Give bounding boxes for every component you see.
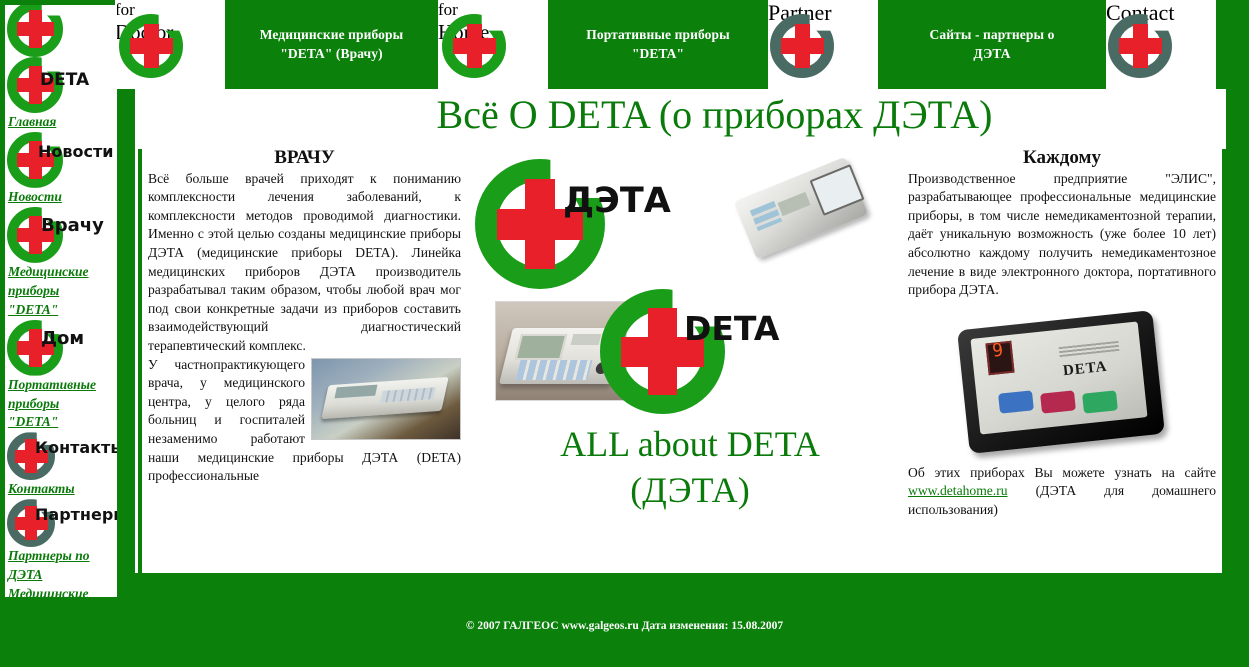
- cross-arc-icon: [442, 14, 506, 78]
- nav-item-partners-line1: Сайты - партнеры о: [930, 26, 1055, 44]
- partners-logo-icon: Партнеры: [5, 499, 117, 547]
- cross-horizontal-bar: [781, 38, 824, 54]
- sidebar-link-partners-2[interactable]: ДЭТА: [5, 566, 117, 585]
- sidebar-item-top: [5, 5, 117, 57]
- logo-word-deta-en: DETA: [684, 309, 779, 348]
- sidebar-link-news[interactable]: Новости: [5, 188, 117, 207]
- device-button-green: [1082, 390, 1118, 413]
- sidebar-link-articles-1[interactable]: Медицинские: [5, 585, 117, 597]
- left-column-heading: ВРАЧУ: [148, 149, 461, 168]
- logo-word-kontakty: Контакты: [35, 438, 117, 457]
- top-navigation: for Doctor Медицинские приборы "DETA" (В…: [0, 0, 1249, 89]
- content-panel: Всё О DETA (о приборах ДЭТА) ВРАЧУ Всё б…: [135, 89, 1226, 573]
- home-logo-icon: Дом: [5, 320, 117, 376]
- deta-portable-device-photo: DETA: [955, 308, 1170, 458]
- device-seven-segment-display: [985, 340, 1014, 375]
- logo-word-deta-ru: ДЭТА: [563, 181, 671, 221]
- sidebar-item-news[interactable]: Новости Новости: [5, 132, 117, 207]
- cross-horizontal-bar: [453, 38, 496, 54]
- logo-word-partnery: Партнеры: [35, 505, 117, 524]
- left-column: ВРАЧУ Всё больше врачей приходят к поним…: [138, 149, 461, 573]
- nav-item-doctor-line2: "DETA" (Врачу): [260, 45, 404, 63]
- sidebar-link-portable-2[interactable]: приборы: [5, 395, 117, 414]
- cross-arc-icon: [7, 5, 63, 57]
- center-headline-line1: ALL about DETA: [475, 421, 905, 467]
- cross-arc-icon: [770, 14, 834, 78]
- deta-contact-logo[interactable]: Contact: [1106, 0, 1216, 89]
- left-column-paragraph-1: Всё больше врачей приходят к пониманию к…: [148, 170, 461, 356]
- logo-word-vrachu: Врачу: [41, 215, 104, 236]
- deta-partner-logo[interactable]: Partner: [768, 0, 878, 89]
- nav-item-partners[interactable]: Сайты - партнеры о ДЭТА: [878, 0, 1106, 89]
- nav-item-doctor[interactable]: Медицинские приборы "DETA" (Врачу): [225, 0, 438, 89]
- nav-item-doctor-line1: Медицинские приборы: [260, 26, 404, 44]
- device-button-red: [1040, 390, 1076, 413]
- nav-item-home-line1: Портативные приборы: [586, 26, 730, 44]
- right-column-paragraph-2-before: Об этих приборах Вы можете узнать на сай…: [908, 465, 1216, 480]
- logo-word-dom: Дом: [41, 328, 84, 349]
- handheld-deta-device-photo: [723, 155, 883, 275]
- professional-device-photo: [311, 358, 461, 440]
- device-screen: [334, 384, 377, 398]
- deta-en-logo: DETA: [600, 289, 725, 414]
- sidebar-link-medical-1[interactable]: Медицинские: [5, 263, 117, 282]
- sidebar-item-partners[interactable]: Партнеры Партнеры по ДЭТА Медицинские ст…: [5, 499, 117, 597]
- nav-item-contacts[interactable]: Контакты: [1216, 0, 1249, 89]
- right-column-heading: Каждому: [908, 149, 1216, 168]
- device-button-up: [998, 390, 1034, 413]
- cross-horizontal-bar: [17, 22, 54, 36]
- sidebar-item-home[interactable]: Дом Портативные приборы "DETA": [5, 320, 117, 433]
- nav-item-home-line2: "DETA": [586, 45, 730, 63]
- nav-item-partners-line2: ДЭТА: [930, 45, 1055, 63]
- center-artwork: ДЭТА DETA ALL ab: [475, 149, 905, 573]
- device-display: [515, 334, 567, 360]
- detahome-link[interactable]: www.detahome.ru: [908, 483, 1008, 498]
- news-logo-icon: Новости: [5, 132, 117, 188]
- deta-logo-icon: DETA: [5, 57, 117, 113]
- sidebar-link-portable-1[interactable]: Портативные: [5, 376, 117, 395]
- sidebar-item-main[interactable]: DETA Главная: [5, 57, 117, 132]
- logo-word-deta: DETA: [40, 70, 89, 90]
- right-column: Каждому Производственное предприятие "ЭЛ…: [908, 149, 1226, 573]
- device-faceplate: [970, 321, 1147, 434]
- doctor-logo-icon: Врачу: [5, 207, 117, 263]
- sidebar: DETA Главная Новости Новости: [5, 5, 117, 597]
- deta-cross-icon-top: [5, 5, 117, 57]
- device-keypad: [516, 360, 593, 380]
- deta-ru-logo: ДЭТА: [475, 159, 605, 289]
- deta-for-doctor-logo[interactable]: for Doctor: [115, 0, 225, 89]
- sidebar-link-contacts[interactable]: Контакты: [5, 480, 117, 499]
- cross-horizontal-bar: [1119, 38, 1162, 54]
- cross-arc-icon: [1108, 14, 1172, 78]
- sidebar-link-main[interactable]: Главная: [5, 113, 117, 132]
- sidebar-link-medical-2[interactable]: приборы: [5, 282, 117, 301]
- center-headline: ALL about DETA (ДЭТА): [475, 421, 905, 513]
- cross-arc-icon: [119, 14, 183, 78]
- sidebar-link-medical-3[interactable]: "DETA": [5, 301, 117, 320]
- device-secondary-display: [571, 334, 602, 345]
- center-headline-line2: (ДЭТА): [475, 467, 905, 513]
- logo-word-novosti: Новости: [38, 142, 113, 161]
- deta-for-home-logo[interactable]: for Home: [438, 0, 548, 89]
- nav-item-home[interactable]: Портативные приборы "DETA": [548, 0, 768, 89]
- sidebar-link-partners-1[interactable]: Партнеры по: [5, 547, 117, 566]
- page-root: for Doctor Медицинские приборы "DETA" (В…: [0, 0, 1249, 667]
- footer: © 2007 ГАЛГЕОС www.galgeos.ru Дата измен…: [0, 620, 1249, 632]
- sidebar-link-portable-3[interactable]: "DETA": [5, 413, 117, 432]
- contacts-logo-icon: Контакты: [5, 432, 117, 480]
- page-title: Всё О DETA (о приборах ДЭТА): [135, 91, 1226, 139]
- right-column-paragraph-2: Об этих приборах Вы можете узнать на сай…: [908, 464, 1216, 520]
- cross-horizontal-bar: [130, 38, 173, 54]
- right-column-paragraph-1: Производственное предприятие "ЭЛИС", раз…: [908, 170, 1216, 300]
- sidebar-item-doctor[interactable]: Врачу Медицинские приборы "DETA": [5, 207, 117, 320]
- sidebar-item-contacts[interactable]: Контакты Контакты: [5, 432, 117, 499]
